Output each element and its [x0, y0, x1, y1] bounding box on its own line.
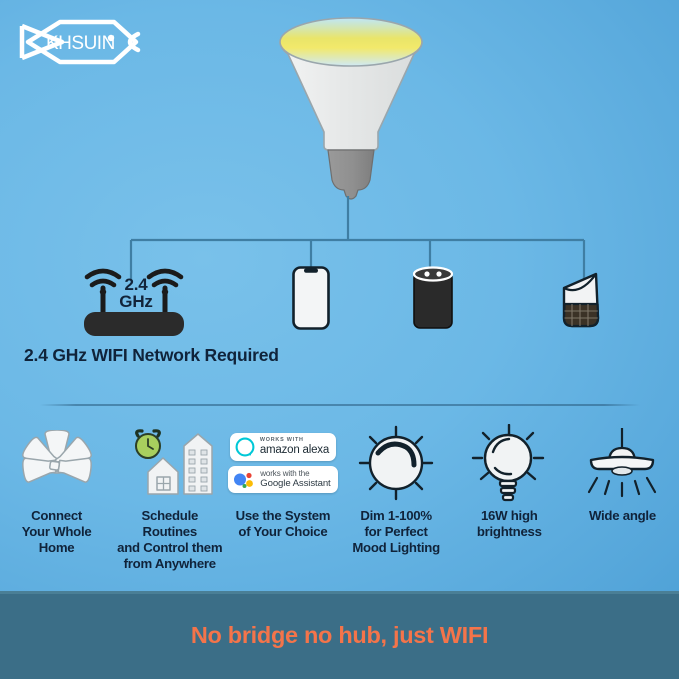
brand-logo: KHSUIN [14, 16, 144, 68]
amazon-echo [410, 264, 456, 335]
google-home-icon [556, 266, 606, 330]
multiple-bulbs-icon [5, 424, 109, 502]
alarm-clock-icon [136, 431, 160, 458]
google-badge-line1: works with the [260, 470, 330, 478]
feature-label-line: brightness [477, 524, 542, 539]
feature-brightness: 16W high brightness [453, 424, 566, 540]
phone-icon [292, 266, 330, 330]
echo-speaker-icon [410, 264, 456, 330]
feature-dimming: Dim 1-100% for Perfect Mood Lighting [340, 424, 453, 556]
frequency-unit: GHz [119, 292, 152, 311]
feature-label-line: Wide angle [589, 508, 656, 523]
feature-label-line: Your Whole [22, 524, 92, 539]
brand-name: KHSUIN [46, 33, 115, 54]
devices-row [0, 258, 679, 338]
fish-logo-icon: KHSUIN [14, 16, 144, 68]
feature-label-line: and Control them [117, 540, 222, 555]
alexa-badge-sup: WORKS WITH [260, 438, 329, 443]
google-assistant-badge: works with the Google Assistant [228, 466, 337, 493]
wifi-requirement-caption: 2.4 GHz WIFI Network Required [24, 345, 279, 366]
feature-label-line: Dim 1-100% [360, 508, 432, 523]
google-assistant-dots-icon [233, 471, 255, 489]
feature-label-line: Mood Lighting [352, 540, 440, 555]
feature-label-line: Home [39, 540, 75, 555]
bright-bulb-icon [471, 424, 547, 502]
wide-angle-lamp-icon [579, 424, 665, 502]
bottom-banner: No bridge no hub, just WIFI [0, 591, 679, 679]
feature-schedule-routines: Schedule Routines and Control them from … [113, 424, 226, 572]
feature-wide-angle: Wide angle [566, 424, 679, 524]
building-icon [184, 434, 212, 494]
feature-label: Dim 1-100% for Perfect Mood Lighting [350, 508, 442, 556]
alexa-ring-icon [235, 437, 255, 457]
google-home [556, 266, 606, 335]
clock-house-building-icon [120, 424, 220, 502]
section-divider [40, 404, 640, 406]
feature-label: Wide angle [587, 508, 658, 524]
banner-headline: No bridge no hub, just WIFI [191, 622, 488, 649]
alexa-badge-main: amazon alexa [260, 445, 329, 457]
br-flood-bulb-icon [262, 4, 440, 204]
banner-top-accent [0, 591, 679, 594]
feature-label-line: from Anywhere [124, 556, 216, 571]
feature-assistant-choice: WORKS WITH amazon alexa works with the [226, 424, 339, 540]
product-infographic: KHSUIN [0, 0, 679, 679]
feature-label: Use the System of Your Choice [234, 508, 333, 540]
dimmer-dial-icon [358, 424, 434, 502]
feature-label-line: 16W high [481, 508, 538, 523]
smartphone [292, 266, 330, 335]
features-row: Connect Your Whole Home [0, 424, 679, 574]
assistant-badges: WORKS WITH amazon alexa works with the [228, 424, 337, 502]
feature-label-line: Schedule Routines [141, 508, 198, 539]
google-badge-line2: Google Assistant [260, 479, 330, 489]
feature-label: Schedule Routines and Control them from … [113, 508, 226, 572]
alexa-badge: WORKS WITH amazon alexa [230, 433, 336, 461]
hero-bulb [262, 4, 440, 204]
feature-label: Connect Your Whole Home [20, 508, 94, 556]
feature-connect-home: Connect Your Whole Home [0, 424, 113, 556]
feature-label-line: Use the System [236, 508, 331, 523]
feature-label: 16W high brightness [475, 508, 544, 540]
feature-label-line: for Perfect [364, 524, 427, 539]
feature-label-line: of Your Choice [238, 524, 327, 539]
feature-label-line: Connect [31, 508, 82, 523]
frequency-label: 2.4 GHz [112, 276, 160, 310]
